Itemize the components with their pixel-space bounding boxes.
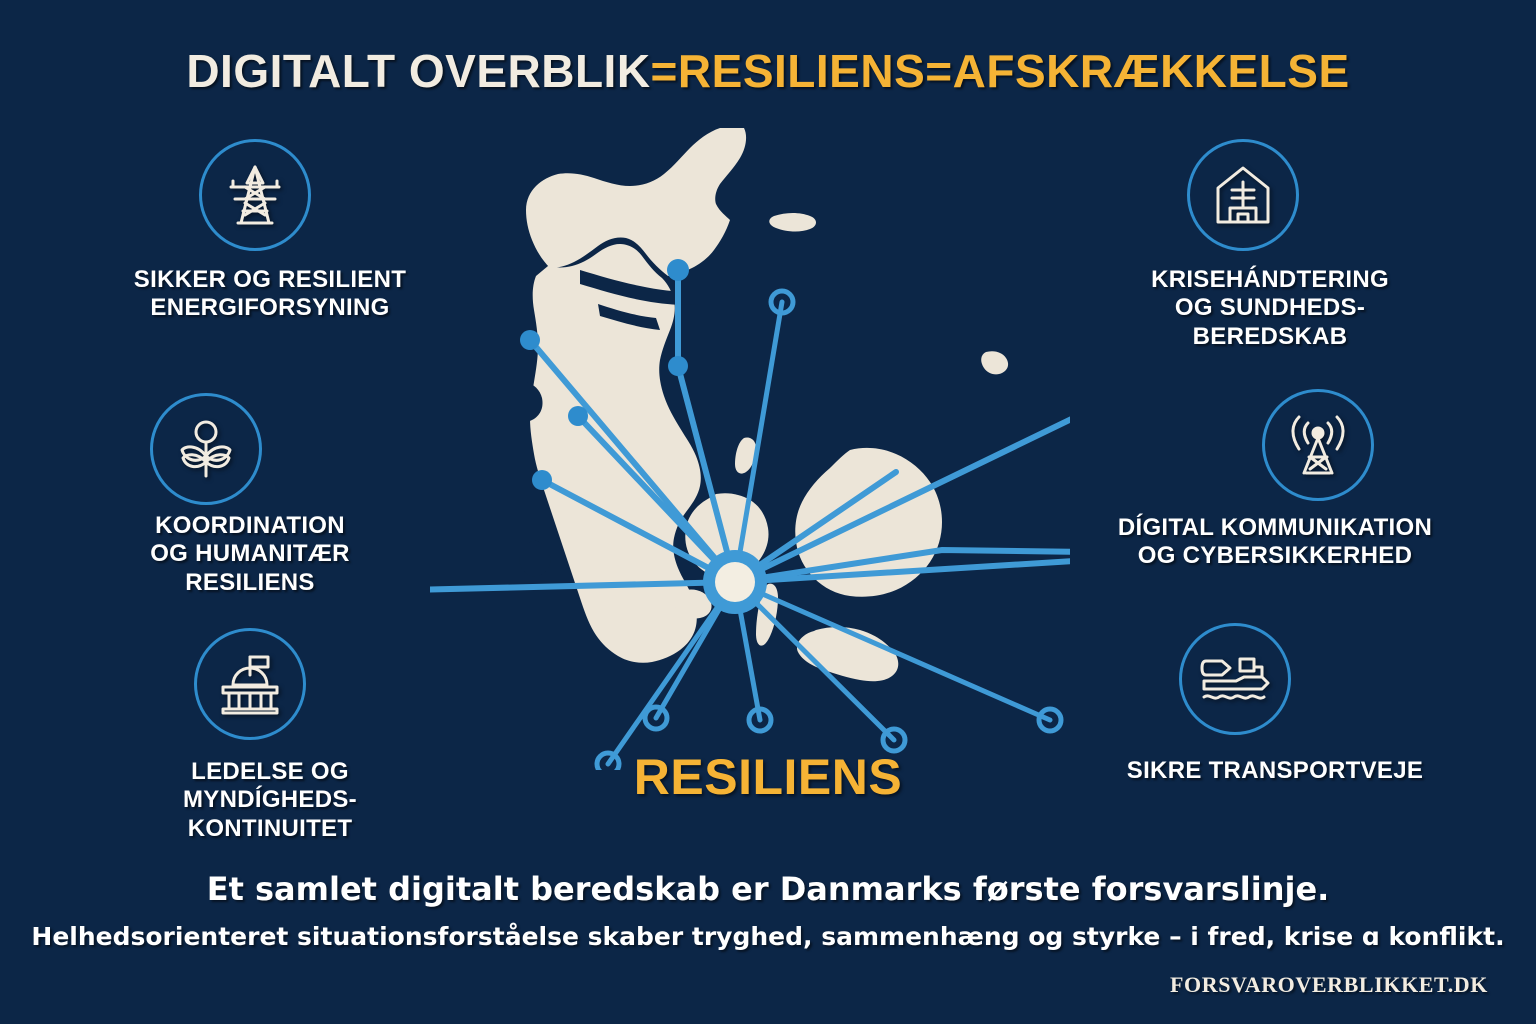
footer-tagline-primary: Et samlet digitalt beredskab er Danmarks… [0, 870, 1536, 908]
left-icon-1[interactable] [199, 139, 311, 251]
left-label-1: SIKKER OG RESILIENT ENERGIFORSYNING [60, 266, 480, 323]
map-node [667, 259, 689, 281]
denmark-map [430, 120, 1070, 770]
cargo-ship-icon [1179, 623, 1291, 735]
map-node [568, 406, 588, 426]
left-icon-3[interactable] [194, 628, 306, 740]
right-icon-1[interactable] [1187, 139, 1299, 251]
center-resilience-label: RESILIENS [0, 748, 1536, 806]
page-title: DIGITALT OVERBLIK=RESILIENS=AFSKRÆKKELSE [0, 44, 1536, 98]
right-icon-2[interactable] [1262, 389, 1374, 501]
footer-tagline-secondary: Helhedsorienteret situationsforståelse s… [0, 922, 1536, 951]
power-pylon-icon [199, 139, 311, 251]
left-icon-2[interactable] [150, 393, 262, 505]
plant-sprout-icon [150, 393, 262, 505]
parliament-building-icon [194, 628, 306, 740]
right-label-2: DÍGITAL KOMMUNIKATION OG CYBERSIKKERHED [1060, 514, 1490, 571]
resilience-hub-marker [703, 550, 767, 614]
title-part-1: DIGITALT OVERBLIK [186, 45, 650, 97]
map-node [532, 470, 552, 490]
hospital-building-icon [1187, 139, 1299, 251]
footer-url[interactable]: FORSVAROVERBLIKKET.DK [1170, 972, 1488, 998]
left-label-2: KOORDINATION OG HUMANITÆR RESILIENS [60, 512, 440, 597]
right-icon-3[interactable] [1179, 623, 1291, 735]
title-equals-1: = [651, 45, 678, 97]
map-node [668, 356, 688, 376]
infographic-canvas: DIGITALT OVERBLIK=RESILIENS=AFSKRÆKKELSE [0, 0, 1536, 1024]
title-equals-2: = [925, 45, 952, 97]
title-part-2: RESILIENS [678, 45, 925, 97]
right-label-1: KRISEHÁNDTERING OG SUNDHEDS- BEREDSKAB [1055, 266, 1485, 351]
title-part-3: AFSKRÆKKELSE [953, 45, 1350, 97]
map-node [520, 330, 540, 350]
radio-tower-icon [1262, 389, 1374, 501]
